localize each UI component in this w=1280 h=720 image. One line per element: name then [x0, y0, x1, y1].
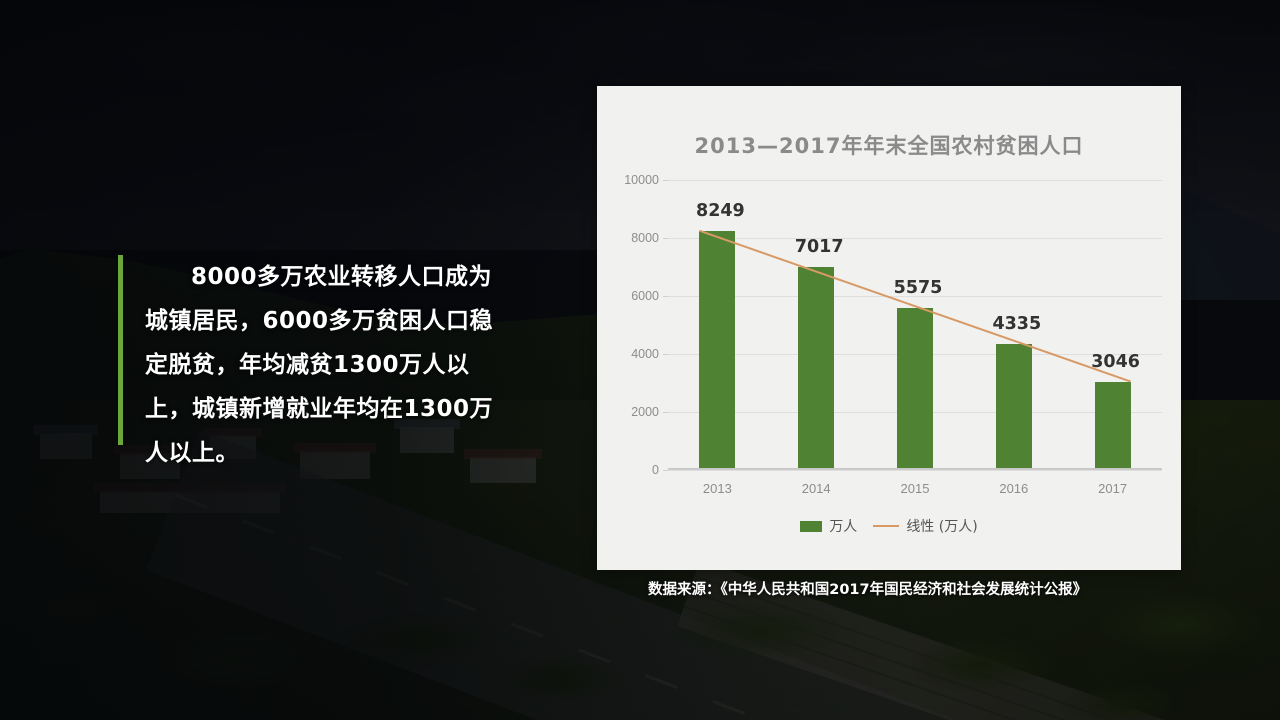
source-note: 数据来源：《中华人民共和国2017年国民经济和社会发展统计公报》 — [648, 578, 1087, 599]
trendline-series — [668, 180, 1162, 470]
y-axis-label: 6000 — [631, 289, 659, 303]
chart-legend: 万人 线性 (万人) — [597, 516, 1181, 536]
y-axis-label: 8000 — [631, 231, 659, 245]
x-axis-line — [668, 468, 1162, 470]
x-axis-label: 2017 — [1098, 481, 1127, 496]
x-axis-label: 2015 — [901, 481, 930, 496]
lead-statement-block: 8000多万农业转移人口成为城镇居民，6000多万贫困人口稳定脱贫，年均减贫13… — [118, 255, 510, 447]
trendline — [699, 231, 1130, 382]
x-axis-label: 2013 — [703, 481, 732, 496]
legend-item-bar[interactable]: 万人 — [800, 516, 857, 536]
legend-swatch-line-icon — [873, 525, 899, 527]
chart-panel: 2013—2017年年末全国农村贫困人口 0200040006000800010… — [597, 86, 1181, 570]
legend-swatch-bar-icon — [800, 521, 822, 532]
x-axis-label: 2016 — [999, 481, 1028, 496]
x-axis-label: 2014 — [802, 481, 831, 496]
lead-paragraph: 8000多万农业转移人口成为城镇居民，6000多万贫困人口稳定脱贫，年均减贫13… — [123, 255, 510, 447]
y-axis-label: 4000 — [631, 347, 659, 361]
legend-item-trend[interactable]: 线性 (万人) — [873, 516, 977, 536]
chart-plot-area: 0200040006000800010000 82497017557543353… — [668, 180, 1162, 470]
gridline — [668, 470, 1162, 471]
chart-title: 2013—2017年年末全国农村贫困人口 — [597, 130, 1181, 160]
y-axis-label: 10000 — [624, 173, 659, 187]
y-axis-label: 0 — [652, 463, 659, 477]
y-axis-label: 2000 — [631, 405, 659, 419]
legend-label-trend: 线性 (万人) — [906, 516, 977, 536]
legend-label-bar: 万人 — [829, 516, 857, 536]
y-tick-mark — [663, 470, 668, 471]
